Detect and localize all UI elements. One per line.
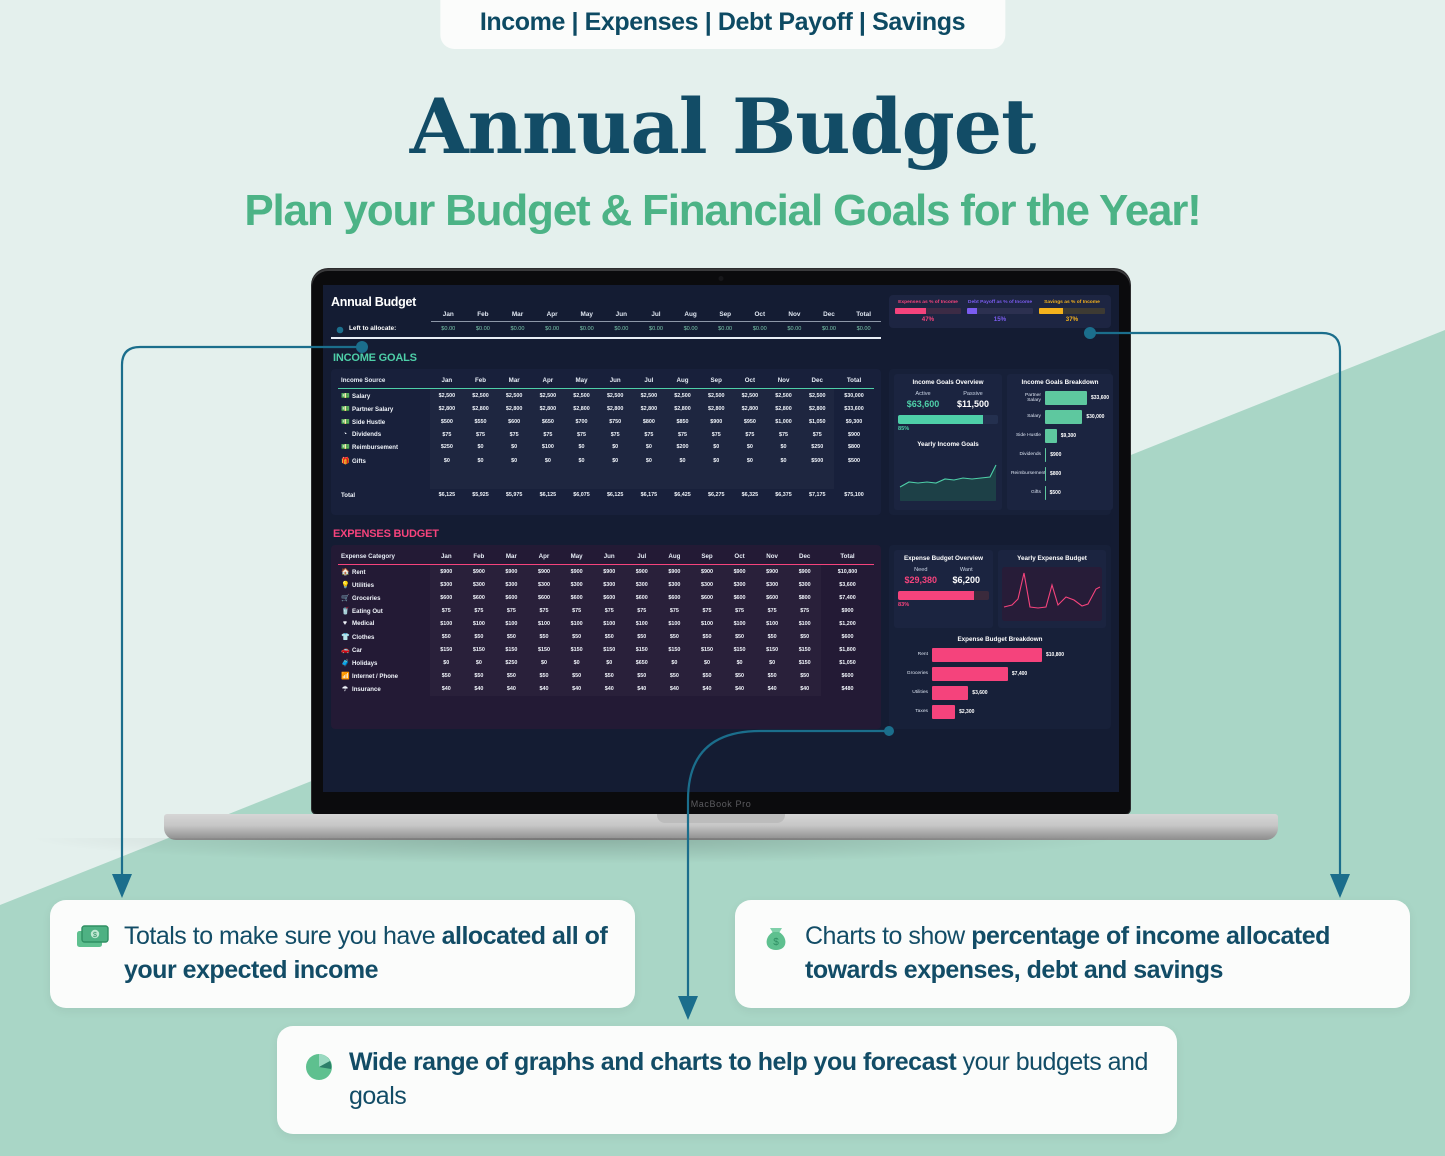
table-cell[interactable]: $0 [565,441,599,454]
table-cell[interactable]: $40 [463,683,496,696]
table-cell[interactable]: $75 [699,429,733,441]
table-cell[interactable]: $75 [497,429,531,441]
expense-need-metric: Need $29,380 [898,567,944,585]
table-cell[interactable]: $100 [531,441,565,454]
table-cell[interactable]: $600 [691,591,724,604]
table-cell[interactable]: $0 [767,454,801,467]
table-cell[interactable]: $40 [495,683,528,696]
table-cell[interactable]: $0 [699,454,733,467]
table-cell[interactable]: $0 [767,441,801,454]
table-cell[interactable]: $75 [430,429,464,441]
table-cell[interactable]: $2,800 [767,402,801,415]
table-row[interactable]: 💵Partner Salary$2,800$2,800$2,800$2,800$… [338,402,874,415]
table-cell[interactable]: $40 [723,683,756,696]
breakdown-bar-track: $33,600 [1045,391,1109,405]
income-passive-value: $11,500 [948,399,998,409]
table-cell[interactable]: $50 [626,670,659,683]
table-cell[interactable]: $50 [495,630,528,643]
table-cell[interactable]: $50 [723,630,756,643]
table-cell[interactable]: $50 [495,670,528,683]
table-row[interactable]: 📶Internet / Phone$50$50$50$50$50$50$50$5… [338,670,874,683]
table-cell[interactable]: $2,500 [464,389,498,403]
percent-card-fill [967,308,977,314]
table-cell[interactable]: $600 [756,591,789,604]
table-cell[interactable]: $40 [756,683,789,696]
table-cell[interactable]: $0 [463,656,496,669]
table-cell[interactable]: $900 [560,565,593,579]
table-cell-total: $500 [834,454,874,467]
table-cell[interactable]: $75 [626,605,659,618]
income-passive-label: Passive [948,391,998,397]
total-cell: $6,275 [699,489,733,501]
table-col-header: Jul [626,551,659,565]
table-cell[interactable]: $0 [691,656,724,669]
table-col-header: Feb [463,551,496,565]
table-cell[interactable]: $900 [699,415,733,428]
table-cell[interactable]: $300 [495,578,528,591]
month-header-mar: Mar [500,311,535,321]
expense-progress-fill [898,591,974,600]
laptop-base [164,814,1278,840]
table-cell[interactable]: $50 [560,670,593,683]
table-cell[interactable]: $900 [626,565,659,579]
table-row[interactable]: 🥤Eating Out$75$75$75$75$75$75$75$75$75$7… [338,605,874,618]
table-cell[interactable]: $75 [756,605,789,618]
table-cell[interactable]: $50 [626,630,659,643]
table-cell[interactable]: $2,800 [464,402,498,415]
table-cell[interactable]: $50 [593,670,626,683]
table-cell[interactable]: $150 [626,643,659,656]
income-overview-title: Income Goals Overview [898,379,998,386]
table-cell[interactable]: $600 [626,591,659,604]
table-cell[interactable]: $2,500 [699,389,733,403]
table-cell[interactable]: $50 [788,630,821,643]
expense-progress-track [898,591,989,600]
table-cell[interactable]: $50 [430,670,463,683]
breakdown-bar-fill [932,667,1008,681]
yearly-expense-card: Yearly Expense Budget [998,550,1106,628]
table-cell[interactable]: $150 [593,643,626,656]
allocate-cell[interactable]: $0.00 [846,326,881,332]
table-cell[interactable]: $0 [560,656,593,669]
table-cell[interactable]: $2,500 [632,389,666,403]
table-cell[interactable]: $650 [531,415,565,428]
table-cell[interactable]: $50 [756,670,789,683]
table-cell[interactable]: $0 [632,454,666,467]
table-col-header: Apr [531,375,565,389]
allocate-cell[interactable]: $0.00 [673,326,708,332]
table-cell[interactable]: $75 [565,429,599,441]
table-total-row: Total$6,125$5,925$5,975$6,125$6,075$6,12… [338,489,874,501]
table-row[interactable]: 🛒Groceries$600$600$600$600$600$600$600$6… [338,591,874,604]
table-cell[interactable]: $300 [788,578,821,591]
table-cell[interactable]: $100 [788,618,821,630]
table-cell[interactable]: $0 [528,656,561,669]
table-cell[interactable]: $150 [463,643,496,656]
table-cell[interactable]: $50 [463,670,496,683]
table-cell[interactable]: $200 [666,441,700,454]
month-header-may: May [569,311,604,321]
table-cell[interactable]: $50 [463,630,496,643]
table-row[interactable]: 👕Clothes$50$50$50$50$50$50$50$50$50$50$5… [338,630,874,643]
table-cell-total: $9,300 [834,415,874,428]
table-cell[interactable]: $100 [756,618,789,630]
table-cell[interactable]: $100 [430,618,463,630]
table-cell[interactable]: $40 [658,683,691,696]
table-cell[interactable]: $150 [430,643,463,656]
breakdown-bar-row: Dividends$900 [1011,448,1109,462]
table-cell[interactable]: $600 [430,591,463,604]
table-row[interactable]: 🧳Holidays$0$0$250$0$0$0$650$0$0$0$0$150$… [338,656,874,669]
table-cell[interactable]: $600 [495,591,528,604]
table-cell[interactable]: $0 [723,656,756,669]
table-cell[interactable]: $500 [430,415,464,428]
table-cell[interactable]: $300 [430,578,463,591]
table-cell[interactable]: $150 [495,643,528,656]
table-cell[interactable]: $600 [593,591,626,604]
table-cell[interactable]: $75 [658,605,691,618]
allocate-cell[interactable]: $0.00 [742,326,777,332]
table-cell[interactable]: $900 [495,565,528,579]
table-cell[interactable]: $50 [658,630,691,643]
table-cell[interactable]: $950 [733,415,767,428]
table-cell[interactable]: $300 [658,578,691,591]
breakdown-bar-value: $33,600 [1091,395,1109,401]
table-col-header: Expense Category [338,551,430,565]
row-label: 🚗Car [338,643,430,656]
breakdown-bar-value: $9,300 [1061,433,1076,439]
table-cell[interactable]: $40 [691,683,724,696]
table-cell[interactable]: $100 [658,618,691,630]
table-cell[interactable]: $300 [463,578,496,591]
row-label: 📶Internet / Phone [338,670,430,683]
breakdown-bar-value: $7,400 [1012,671,1027,677]
table-cell[interactable]: $0 [531,454,565,467]
spreadsheet-app: Annual Budget JanFebMarAprMayJunJulAugSe… [323,285,1119,729]
table-cell[interactable]: $2,800 [800,402,834,415]
table-cell[interactable]: $0 [658,656,691,669]
table-cell[interactable]: $0 [593,656,626,669]
table-cell[interactable]: $150 [560,643,593,656]
breakdown-bar-fill [1045,410,1082,424]
heart-icon: ♥ [341,620,349,627]
total-cell: $6,375 [767,489,801,501]
table-cell[interactable]: $0 [756,656,789,669]
table-cell[interactable]: $2,800 [497,402,531,415]
table-cell[interactable]: $40 [593,683,626,696]
table-cell[interactable]: $600 [463,591,496,604]
table-cell[interactable]: $900 [658,565,691,579]
table-cell[interactable]: $300 [691,578,724,591]
table-cell[interactable]: $900 [788,565,821,579]
table-row[interactable]: 🎁Gifts$0$0$0$0$0$0$0$0$0$0$0$500$500 [338,454,874,467]
table-cell[interactable]: $75 [495,605,528,618]
table-col-header: Jan [430,551,463,565]
laptop-screen: Annual Budget JanFebMarAprMayJunJulAugSe… [323,285,1119,792]
table-cell-total: $10,800 [821,565,874,579]
table-cell[interactable]: $2,500 [666,389,700,403]
table-cell[interactable]: $2,800 [699,402,733,415]
table-cell[interactable]: $2,800 [632,402,666,415]
table-cell-total: $800 [834,441,874,454]
table-cell[interactable]: $600 [560,591,593,604]
table-cell[interactable]: $900 [691,565,724,579]
table-cell[interactable]: $75 [560,605,593,618]
table-cell[interactable]: $2,800 [430,402,464,415]
table-row[interactable]: 💡Utilities$300$300$300$300$300$300$300$3… [338,578,874,591]
gift-icon: 🎁 [341,457,349,465]
table-cell[interactable]: $0 [430,656,463,669]
table-cell[interactable]: $300 [560,578,593,591]
table-row[interactable]: ♥Medical$100$100$100$100$100$100$100$100… [338,618,874,630]
row-label: 👕Clothes [338,630,430,643]
table-cell[interactable]: $650 [626,656,659,669]
table-cell[interactable]: $600 [723,591,756,604]
table-cell[interactable]: $0 [464,441,498,454]
table-cell[interactable]: $2,500 [565,389,599,403]
table-row[interactable]: 💵Side Hustle$500$550$600$650$700$750$800… [338,415,874,428]
table-cell[interactable]: $75 [464,429,498,441]
table-cell[interactable]: $75 [632,429,666,441]
table-cell[interactable]: $800 [632,415,666,428]
breakdown-bar-row: Utilities$3,600 [898,686,1102,700]
table-cell[interactable]: $500 [800,454,834,467]
allocate-cell[interactable]: $0.00 [535,326,570,332]
table-cell[interactable]: $40 [626,683,659,696]
table-cell[interactable]: $100 [691,618,724,630]
table-cell[interactable]: $2,500 [430,389,464,403]
table-cell[interactable]: $50 [528,630,561,643]
allocate-cell[interactable]: $0.00 [639,326,674,332]
table-cell[interactable]: $75 [463,605,496,618]
table-cell-total: $3,600 [821,578,874,591]
table-cell[interactable]: $50 [593,630,626,643]
table-cell[interactable]: $800 [788,591,821,604]
money-icon: 💵 [341,418,349,426]
table-cell[interactable]: $50 [788,670,821,683]
percent-card-value: 37% [1039,316,1105,323]
table-row[interactable]: ◔Dividends$75$75$75$75$75$75$75$75$75$75… [338,429,874,441]
table-cell[interactable]: $300 [756,578,789,591]
breakdown-bar-fill [932,648,1042,662]
table-row[interactable]: 💵Salary$2,500$2,500$2,500$2,500$2,500$2,… [338,389,874,403]
table-cell[interactable]: $75 [430,605,463,618]
table-cell[interactable]: $0 [598,454,632,467]
table-cell[interactable]: $75 [733,429,767,441]
table-cell[interactable]: $900 [756,565,789,579]
table-cell[interactable]: $40 [430,683,463,696]
pie-chart-icon [303,1050,335,1087]
table-cell[interactable]: $300 [593,578,626,591]
table-cell[interactable]: $75 [767,429,801,441]
table-cell[interactable]: $150 [723,643,756,656]
row-label: ♥Medical [338,618,430,630]
allocate-cell[interactable]: $0.00 [708,326,743,332]
table-cell[interactable]: $2,500 [497,389,531,403]
month-header-nov: Nov [777,311,812,321]
total-cell: $5,975 [497,489,531,501]
table-cell[interactable]: $150 [756,643,789,656]
table-cell[interactable]: $900 [430,565,463,579]
table-cell[interactable]: $2,500 [598,389,632,403]
breakdown-bar-track: $500 [1045,486,1109,500]
table-cell[interactable]: $2,800 [565,402,599,415]
table-cell[interactable]: $100 [593,618,626,630]
breakdown-bar-fill [932,705,955,719]
table-cell[interactable]: $0 [430,454,464,467]
table-cell[interactable]: $2,800 [666,402,700,415]
table-cell[interactable]: $100 [495,618,528,630]
table-cell[interactable]: $0 [464,454,498,467]
table-cell[interactable]: $150 [528,643,561,656]
table-cell[interactable]: $0 [598,441,632,454]
table-cell[interactable]: $300 [626,578,659,591]
table-row[interactable]: 🚗Car$150$150$150$150$150$150$150$150$150… [338,643,874,656]
table-cell[interactable]: $100 [560,618,593,630]
table-cell[interactable]: $0 [666,454,700,467]
yearly-income-title: Yearly Income Goals [898,441,998,448]
table-cell[interactable]: $75 [598,429,632,441]
table-cell[interactable]: $900 [528,565,561,579]
table-cell[interactable]: $40 [528,683,561,696]
table-cell[interactable]: $0 [632,441,666,454]
allocate-cell[interactable]: $0.00 [812,326,847,332]
table-cell[interactable]: $900 [463,565,496,579]
table-cell[interactable]: $0 [497,454,531,467]
allocate-cell[interactable]: $0.00 [431,326,466,332]
table-cell[interactable]: $40 [560,683,593,696]
table-cell[interactable]: $850 [666,415,700,428]
table-cell[interactable]: $300 [528,578,561,591]
income-section-title: INCOME GOALS [333,352,1111,364]
row-label: 🧳Holidays [338,656,430,669]
table-cell[interactable]: $550 [464,415,498,428]
table-cell[interactable]: $100 [723,618,756,630]
table-cell[interactable]: $50 [658,670,691,683]
table-cell[interactable]: $250 [800,441,834,454]
table-cell[interactable]: $1,050 [800,415,834,428]
table-cell[interactable]: $50 [691,630,724,643]
table-cell-total: $600 [821,630,874,643]
table-cell[interactable]: $2,800 [598,402,632,415]
table-cell[interactable]: $0 [733,454,767,467]
table-cell[interactable]: $50 [528,670,561,683]
table-cell[interactable]: $100 [528,618,561,630]
breakdown-bar-label: Groceries [898,671,932,676]
table-cell[interactable]: $900 [723,565,756,579]
callout-graphs: Wide range of graphs and charts to help … [277,1026,1177,1134]
allocate-cell[interactable]: $0.00 [777,326,812,332]
callout-charts-percentage: $ Charts to show percentage of income al… [735,900,1410,1008]
percent-of-income-card: Expenses as % of Income47%Debt Payoff as… [889,295,1111,328]
month-header-sep: Sep [708,311,743,321]
percent-card-track [1039,308,1105,314]
table-cell[interactable]: $50 [723,670,756,683]
table-cell[interactable]: $250 [430,441,464,454]
table-cell[interactable]: $750 [598,415,632,428]
table-cell[interactable]: $2,800 [531,402,565,415]
breakdown-bar-row: Partner Salary$33,600 [1011,391,1109,405]
table-col-header: Jul [632,375,666,389]
breakdown-bar-value: $10,800 [1046,652,1064,658]
table-cell[interactable]: $600 [658,591,691,604]
table-col-header: Sep [691,551,724,565]
table-col-header: Income Source [338,375,430,389]
cash-icon: $ [76,924,110,955]
table-cell[interactable]: $75 [531,429,565,441]
table-cell[interactable]: $900 [593,565,626,579]
allocate-cell[interactable]: $0.00 [604,326,639,332]
table-cell[interactable]: $50 [430,630,463,643]
table-cell[interactable]: $75 [723,605,756,618]
table-cell[interactable]: $250 [495,656,528,669]
table-cell[interactable]: $0 [699,441,733,454]
percent-card-item: Savings as % of Income37% [1039,300,1105,323]
table-cell[interactable]: $0 [565,454,599,467]
total-cell: $6,125 [430,489,464,501]
allocate-cell[interactable]: $0.00 [500,326,535,332]
row-label: ◔Dividends [338,429,430,441]
table-cell[interactable]: $1,000 [767,415,801,428]
expense-want-value: $6,200 [944,575,990,585]
breakdown-bar-track: $10,800 [932,648,1102,662]
income-breakdown-card: Income Goals Breakdown Partner Salary$33… [1007,374,1113,510]
table-cell[interactable]: $150 [788,656,821,669]
table-cell[interactable]: $0 [497,441,531,454]
table-cell[interactable]: $50 [691,670,724,683]
breakdown-bar-label: Reimbursement [1011,471,1045,476]
table-cell[interactable]: $40 [788,683,821,696]
table-cell[interactable]: $75 [788,605,821,618]
svg-text:$: $ [93,932,97,939]
table-row[interactable]: ☂Insurance$40$40$40$40$40$40$40$40$40$40… [338,683,874,696]
table-cell[interactable]: $100 [463,618,496,630]
table-cell-total: $1,050 [821,656,874,669]
table-cell[interactable]: $150 [691,643,724,656]
table-cell[interactable]: $700 [565,415,599,428]
allocate-cell[interactable]: $0.00 [466,326,501,332]
total-cell: $6,425 [666,489,700,501]
table-cell[interactable]: $50 [560,630,593,643]
table-cell[interactable]: $2,500 [733,389,767,403]
breakdown-bar-fill [1045,429,1057,443]
table-cell[interactable]: $2,500 [800,389,834,403]
table-cell[interactable]: $600 [497,415,531,428]
table-col-header: Mar [497,375,531,389]
allocate-cell[interactable]: $0.00 [569,326,604,332]
table-row[interactable]: 💵Reimbursement$250$0$0$100$0$0$0$200$0$0… [338,441,874,454]
table-cell[interactable]: $75 [528,605,561,618]
table-cell[interactable]: $75 [800,429,834,441]
table-cell[interactable]: $50 [756,630,789,643]
table-cell[interactable]: $2,500 [531,389,565,403]
table-cell[interactable]: $150 [788,643,821,656]
table-row[interactable]: 🏠Rent$900$900$900$900$900$900$900$900$90… [338,565,874,579]
table-cell[interactable]: $100 [626,618,659,630]
table-cell[interactable]: $300 [723,578,756,591]
cup-icon: 🥤 [341,607,349,615]
table-cell[interactable]: $75 [666,429,700,441]
table-cell[interactable]: $600 [528,591,561,604]
page-title: Annual Budget [0,82,1445,171]
table-cell[interactable]: $2,500 [767,389,801,403]
table-cell[interactable]: $150 [658,643,691,656]
table-cell[interactable]: $75 [593,605,626,618]
table-cell[interactable]: $75 [691,605,724,618]
table-cell[interactable]: $0 [733,441,767,454]
table-cell[interactable]: $2,800 [733,402,767,415]
month-header-jul: Jul [639,311,674,321]
